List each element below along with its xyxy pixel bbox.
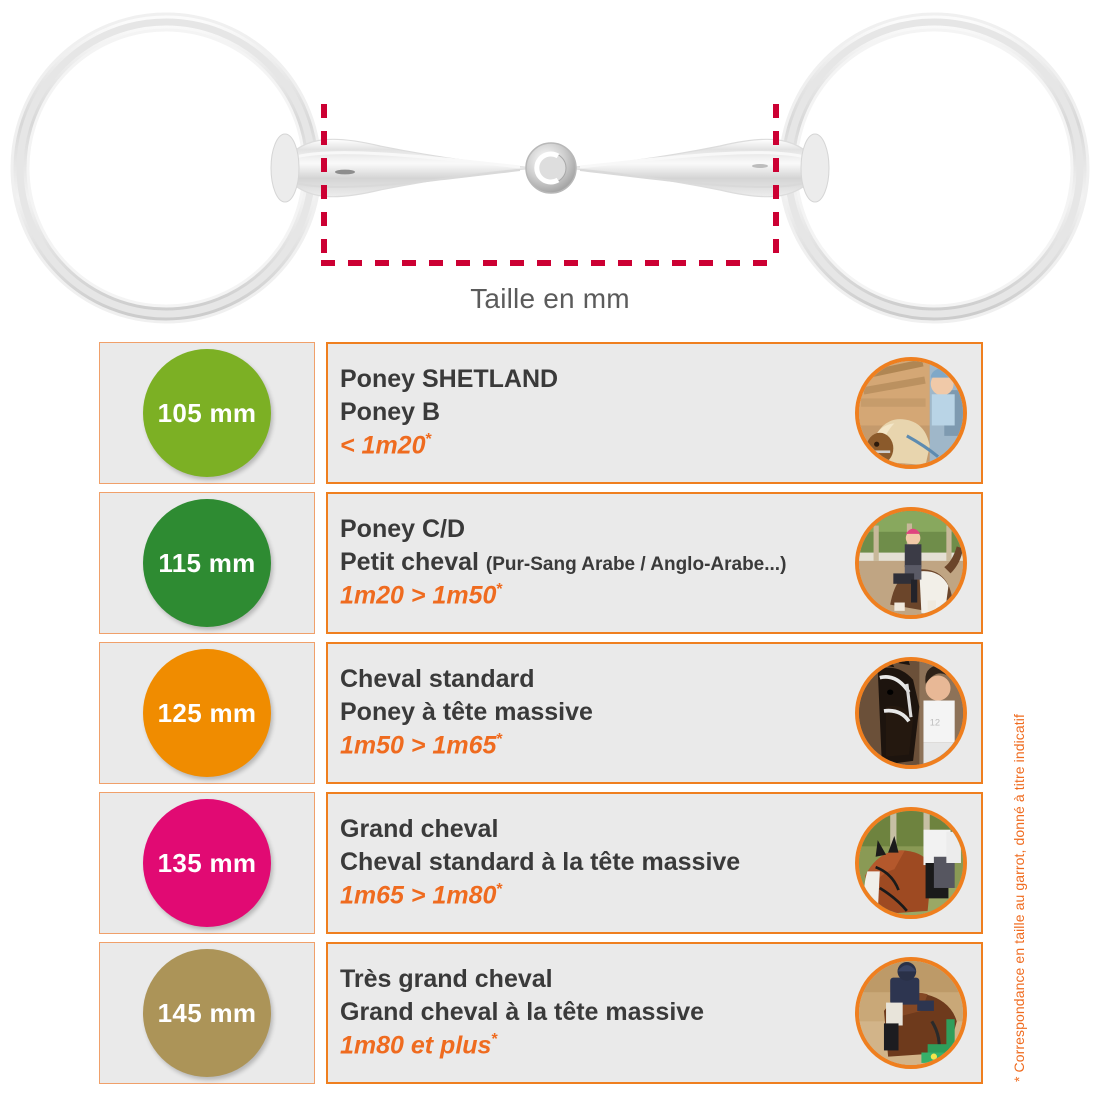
- table-row: 105 mm Poney SHETLAND Poney B < 1m20*: [99, 342, 983, 484]
- table-row: 135 mm Grand cheval Cheval standard à la…: [99, 792, 983, 934]
- footnote-vertical: * Correspondance en taille au garrot, do…: [1011, 642, 1027, 1082]
- left-mouthpiece-arm: [271, 134, 540, 202]
- height-range: 1m20 > 1m50*: [340, 579, 847, 612]
- category-line-2: Cheval standard à la tête massive: [340, 846, 847, 879]
- size-badge-label: 125 mm: [158, 698, 257, 729]
- category-line-2-text: Petit cheval: [340, 548, 479, 576]
- table-row: 125 mm Cheval standard Poney à tête mass…: [99, 642, 983, 784]
- category-line-1-text: Poney SHETLAND: [340, 365, 558, 393]
- category-photo: [855, 807, 967, 919]
- category-text: Poney C/D Petit cheval (Pur-Sang Arabe /…: [340, 513, 855, 612]
- size-badge-cell: 125 mm: [99, 642, 315, 784]
- pinto-pony-photo: [859, 511, 963, 615]
- height-range-text: 1m80 et plus: [340, 1032, 491, 1060]
- category-text: Poney SHETLAND Poney B < 1m20*: [340, 363, 855, 462]
- category-line-1: Grand cheval: [340, 813, 847, 846]
- category-text: Grand cheval Cheval standard à la tête m…: [340, 813, 855, 912]
- category-photo: [855, 507, 967, 619]
- category-line-2: Petit cheval (Pur-Sang Arabe / Anglo-Ara…: [340, 546, 847, 579]
- category-line-2-text: Cheval standard à la tête massive: [340, 848, 740, 876]
- category-line-2-text: Poney à tête massive: [340, 698, 593, 726]
- height-asterisk: *: [426, 431, 432, 448]
- height-asterisk: *: [496, 881, 502, 898]
- category-line-2: Grand cheval à la tête massive: [340, 996, 847, 1029]
- size-badge: 105 mm: [143, 349, 271, 477]
- height-range-text: 1m20 > 1m50: [340, 582, 496, 610]
- size-badge-cell: 115 mm: [99, 492, 315, 634]
- category-photo: 12: [855, 657, 967, 769]
- height-asterisk: *: [496, 731, 502, 748]
- category-text: Cheval standard Poney à tête massive 1m5…: [340, 663, 855, 762]
- horse-category-panel: Cheval standard Poney à tête massive 1m5…: [326, 642, 983, 784]
- size-badge: 135 mm: [143, 799, 271, 927]
- category-line-1: Poney C/D: [340, 513, 847, 546]
- horse-category-panel: Grand cheval Cheval standard à la tête m…: [326, 792, 983, 934]
- table-row: 145 mm Très grand cheval Grand cheval à …: [99, 942, 983, 1084]
- height-asterisk: *: [496, 581, 502, 598]
- category-line-1: Cheval standard: [340, 663, 847, 696]
- size-badge-label: 115 mm: [158, 548, 255, 579]
- category-photo: [855, 957, 967, 1069]
- horse-category-panel: Très grand cheval Grand cheval à la tête…: [326, 942, 983, 1084]
- measurement-label: Taille en mm: [0, 283, 1100, 315]
- size-badge: 115 mm: [143, 499, 271, 627]
- height-range: 1m80 et plus*: [340, 1029, 847, 1062]
- chestnut-horse-photo: [859, 811, 963, 915]
- category-line-1-text: Cheval standard: [340, 665, 535, 693]
- category-line-1-text: Poney C/D: [340, 515, 465, 543]
- height-asterisk: *: [491, 1031, 497, 1048]
- height-range-text: 1m50 > 1m65: [340, 732, 496, 760]
- horse-category-panel: Poney SHETLAND Poney B < 1m20*: [326, 342, 983, 484]
- size-badge: 125 mm: [143, 649, 271, 777]
- height-range: 1m65 > 1m80*: [340, 879, 847, 912]
- dark-bay-horse-photo: 12: [859, 661, 963, 765]
- size-badge-cell: 145 mm: [99, 942, 315, 1084]
- bit-illustration: Taille en mm: [0, 0, 1100, 336]
- category-photo: [855, 357, 967, 469]
- height-range-text: < 1m20: [340, 432, 426, 460]
- category-line-2: Poney B: [340, 396, 847, 429]
- category-line-2-text: Poney B: [340, 398, 440, 426]
- horse-category-panel: Poney C/D Petit cheval (Pur-Sang Arabe /…: [326, 492, 983, 634]
- size-badge-cell: 135 mm: [99, 792, 315, 934]
- center-joint: [526, 143, 576, 193]
- size-badge-cell: 105 mm: [99, 342, 315, 484]
- category-line-2-text: Grand cheval à la tête massive: [340, 998, 704, 1026]
- size-badge-label: 145 mm: [158, 998, 257, 1029]
- size-correspondence-table: 105 mm Poney SHETLAND Poney B < 1m20*: [99, 342, 983, 1084]
- category-line-1-text: Très grand cheval: [340, 965, 553, 993]
- size-badge-label: 105 mm: [158, 398, 257, 429]
- show-jumping-horse-photo: [859, 961, 963, 1065]
- category-line-1: Très grand cheval: [340, 963, 847, 996]
- svg-text:12: 12: [930, 717, 940, 727]
- shetland-pony-photo: [859, 361, 963, 465]
- category-line-2: Poney à tête massive: [340, 696, 847, 729]
- height-range-text: 1m65 > 1m80: [340, 882, 496, 910]
- category-text: Très grand cheval Grand cheval à la tête…: [340, 963, 855, 1062]
- height-range: < 1m20*: [340, 429, 847, 462]
- size-badge: 145 mm: [143, 949, 271, 1077]
- category-line-1-text: Grand cheval: [340, 815, 498, 843]
- size-badge-label: 135 mm: [158, 848, 257, 879]
- height-range: 1m50 > 1m65*: [340, 729, 847, 762]
- category-line-2-paren: (Pur-Sang Arabe / Anglo-Arabe...): [486, 554, 787, 575]
- right-mouthpiece-arm: [560, 134, 829, 202]
- category-line-1: Poney SHETLAND: [340, 363, 847, 396]
- table-row: 115 mm Poney C/D Petit cheval (Pur-Sang …: [99, 492, 983, 634]
